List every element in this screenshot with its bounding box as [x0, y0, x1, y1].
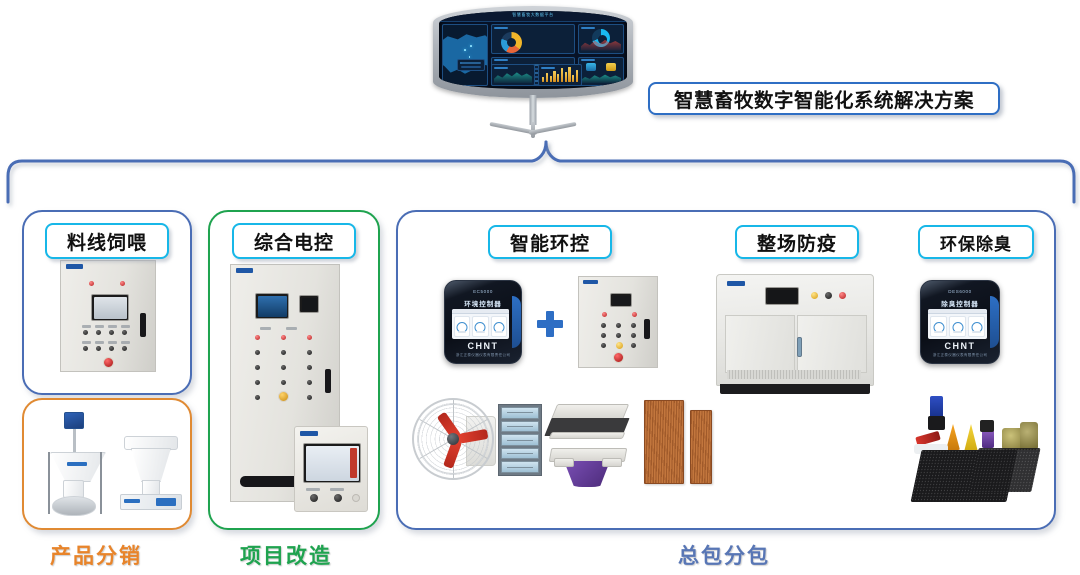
page-title: 智慧畜牧数字智能化系统解决方案 — [648, 82, 1000, 115]
monitor-bezel: 智慧畜牧大数据平台 — [433, 6, 633, 98]
machine-door-right[interactable] — [797, 315, 867, 373]
chip-whole-farm-biosecurity[interactable]: 整场防疫 — [735, 225, 859, 259]
china-map-panel — [442, 24, 488, 86]
spray-nozzle-assembly — [912, 394, 1042, 512]
machine-base — [720, 384, 870, 394]
screen-tile-humidity[interactable] — [472, 316, 488, 337]
chip-environmental-deodorization[interactable]: 环保除臭 — [918, 225, 1034, 259]
wall-controller-unit — [294, 426, 368, 512]
chip-environmental-deodorization-label: 环保除臭 — [940, 230, 1012, 255]
fan-hub — [447, 433, 459, 445]
nozzle-orange-cone — [946, 424, 960, 450]
hmi-display — [255, 293, 289, 319]
feed-control-cabinet — [60, 260, 156, 372]
chip-integrated-electric-control[interactable]: 综合电控 — [232, 223, 356, 259]
gauge-panel — [578, 57, 624, 87]
hopper-mast — [73, 429, 76, 453]
controller-screen[interactable] — [452, 309, 509, 339]
chnt-brand-label: CHNT — [445, 341, 521, 351]
top-bracket — [0, 140, 1080, 210]
alarm-indicator — [350, 448, 357, 478]
hopper-controller-box — [64, 412, 84, 429]
caption-product-distribution: 产品分销 — [50, 540, 142, 570]
chip-smart-environment-control[interactable]: 智能环控 — [488, 225, 612, 259]
cabinet-handle[interactable] — [325, 369, 331, 393]
donut-chart-panel — [491, 24, 575, 54]
chnt-logo — [583, 280, 598, 284]
panel-meter — [610, 293, 632, 307]
nozzle-blue — [930, 396, 943, 418]
air-inlet-upper — [548, 402, 628, 444]
chnt-logo — [727, 281, 745, 286]
valve-brass-right — [1020, 422, 1038, 450]
controller-footer-text: 浙江正泰仪器仪表有限责任公司 — [921, 353, 999, 358]
weighing-funnel — [131, 448, 171, 482]
gauge-sparkline — [581, 72, 621, 83]
subgroup-smart-environment-control: EC5000 环境控制器 CHNT 浙江正泰仪器仪表有限责任公司 — [398, 212, 708, 528]
machine-handle[interactable] — [797, 337, 802, 357]
environment-controller[interactable]: EC5000 环境控制器 CHNT 浙江正泰仪器仪表有限责任公司 — [444, 280, 522, 364]
bar-chart — [542, 66, 578, 82]
environment-control-panel — [578, 276, 658, 368]
cabinet-handle[interactable] — [140, 313, 146, 337]
screen-tile-temperature[interactable] — [454, 316, 470, 337]
subgroup-environmental-deodorization: DES6000 除臭控制器 CHNT 浙江正泰仪器仪表有限责任公司 — [896, 212, 1058, 528]
knob-left[interactable] — [310, 494, 318, 502]
machine-vent — [727, 370, 861, 379]
nozzle-body-black — [928, 416, 945, 430]
panel-handle[interactable] — [644, 319, 650, 339]
controller-screen[interactable] — [928, 309, 987, 339]
dashboard-monitor: 智慧畜牧大数据平台 — [425, 2, 640, 147]
hopper-frame-left — [48, 452, 50, 514]
hopper-pan — [52, 496, 96, 516]
hopper-funnel — [50, 452, 106, 482]
emergency-stop-button[interactable] — [103, 357, 114, 368]
controller-side-accent — [512, 296, 521, 349]
controller-subtitle: 除臭控制器 — [921, 298, 999, 308]
screen-tile-spray[interactable] — [949, 316, 966, 337]
controller-footer-text: 浙江正泰仪器仪表有限责任公司 — [445, 353, 521, 358]
controller-side-accent — [990, 296, 999, 349]
caption-general-contracting: 总包分包 — [678, 540, 770, 570]
disinfection-machine — [716, 274, 874, 386]
weighing-brand-label — [124, 499, 140, 503]
emergency-stop-button[interactable] — [278, 391, 289, 402]
china-map-icon — [442, 29, 488, 81]
stand-leg-right — [528, 122, 576, 135]
gauge-icon-a — [586, 63, 596, 71]
chnt-logo — [66, 264, 83, 269]
kpi-donut-panel — [578, 24, 624, 54]
nozzle-cap-black — [980, 420, 994, 432]
weighing-top-housing — [124, 436, 178, 450]
gauge-icon-b — [606, 63, 616, 71]
map-tooltip — [457, 59, 485, 71]
controller-display — [303, 443, 361, 483]
chnt-logo — [300, 431, 318, 436]
chnt-brand-label: CHNT — [921, 341, 999, 351]
feed-hopper-dispenser — [40, 412, 116, 524]
chip-whole-farm-biosecurity-label: 整场防疫 — [757, 229, 837, 256]
screen-tile-ventilation[interactable] — [491, 316, 507, 337]
page-title-text: 智慧畜牧数字智能化系统解决方案 — [674, 84, 974, 113]
chip-feed-line-label: 料线饲喂 — [67, 228, 147, 255]
area-chart — [494, 69, 532, 83]
screen-header-bar: 智慧畜牧大数据平台 — [439, 11, 627, 22]
controller-subtitle: 环境控制器 — [445, 298, 521, 308]
bar-chart-panel — [538, 64, 582, 86]
weighing-display — [156, 498, 176, 506]
hopper-frame-right — [100, 452, 102, 514]
donut-chart-icon — [501, 32, 522, 53]
diagram-canvas: 智慧畜牧大数据平台 — [0, 0, 1080, 575]
chip-integrated-electric-control-label: 综合电控 — [254, 228, 334, 255]
meter-display — [299, 295, 319, 313]
monitor-stand — [485, 122, 581, 142]
nozzle-purple — [982, 430, 994, 448]
chip-feed-line[interactable]: 料线饲喂 — [45, 223, 169, 259]
status-light — [352, 494, 360, 502]
cooling-pad-large — [644, 400, 684, 484]
screen-title: 智慧畜牧大数据平台 — [512, 12, 553, 18]
knob-right[interactable] — [334, 494, 342, 502]
chnt-logo — [236, 268, 253, 273]
feed-weighing-unit — [120, 436, 182, 522]
monitor-neck — [529, 95, 536, 125]
ventilation-louver — [498, 404, 542, 476]
emergency-stop-button[interactable] — [613, 352, 624, 363]
deodorization-controller[interactable]: DES6000 除臭控制器 CHNT 浙江正泰仪器仪表有限责任公司 — [920, 280, 1000, 364]
machine-door-left[interactable] — [725, 315, 795, 373]
group-product-distribution — [22, 398, 192, 530]
subgroup-whole-farm-biosecurity — [698, 212, 898, 528]
air-inlet-lower — [548, 448, 628, 490]
controller-model-label: DES6000 — [921, 289, 999, 294]
controller-model-label: EC5000 — [445, 289, 521, 294]
hmi-display — [91, 294, 129, 321]
filter-mesh-media-secondary — [969, 448, 1040, 492]
exhaust-fan — [412, 398, 494, 480]
plus-operator-icon — [537, 311, 563, 337]
screen-tile-settings[interactable] — [968, 316, 985, 337]
machine-hmi-display — [765, 287, 799, 305]
nozzle-yellow-cone — [964, 424, 978, 452]
hopper-brand-label — [67, 462, 87, 466]
monitor-screen: 智慧畜牧大数据平台 — [439, 11, 627, 89]
screen-tile-odor-level[interactable] — [930, 316, 947, 337]
chip-smart-environment-control-label: 智能环控 — [510, 229, 590, 256]
caption-project-retrofit: 项目改造 — [240, 540, 332, 570]
area-chart-panel — [491, 64, 535, 86]
